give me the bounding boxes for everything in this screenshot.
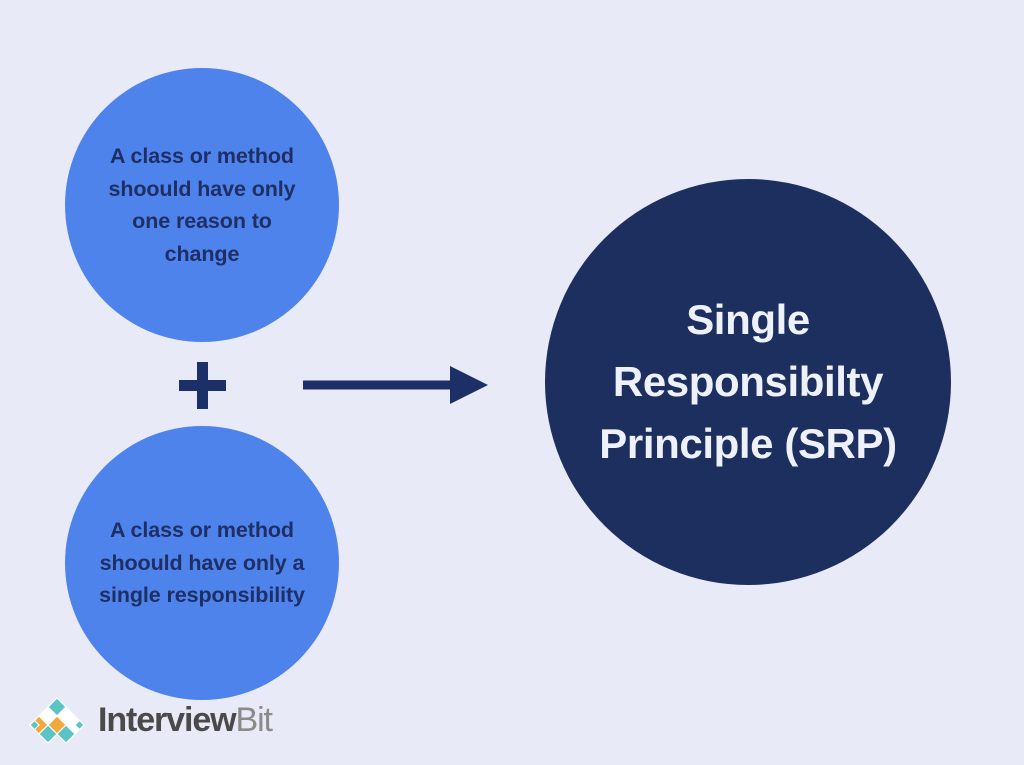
result-circle-label: Single Responsibilty Principle (SRP) <box>587 289 909 475</box>
plus-icon-vertical-bar <box>197 362 208 409</box>
condition-circle-2-label: A class or method shoould have only a si… <box>99 514 305 612</box>
result-circle: Single Responsibilty Principle (SRP) <box>545 179 951 585</box>
interviewbit-wordmark: InterviewBit <box>98 703 272 737</box>
condition-circle-2: A class or method shoould have only a si… <box>65 426 339 700</box>
condition-circle-1: A class or method shoould have only one … <box>65 68 339 342</box>
plus-icon <box>179 362 226 409</box>
diagram-canvas: A class or method shoould have only one … <box>0 0 1024 765</box>
interviewbit-logo: InterviewBit <box>28 696 272 744</box>
logo-word-primary: Interview <box>98 701 236 739</box>
interviewbit-diamond-pyramid-icon <box>28 696 86 744</box>
arrow-right-icon <box>303 362 488 408</box>
logo-word-secondary: Bit <box>236 701 272 739</box>
arrow-right-icon-svg <box>303 362 488 408</box>
condition-circle-1-label: A class or method shoould have only one … <box>99 140 305 270</box>
